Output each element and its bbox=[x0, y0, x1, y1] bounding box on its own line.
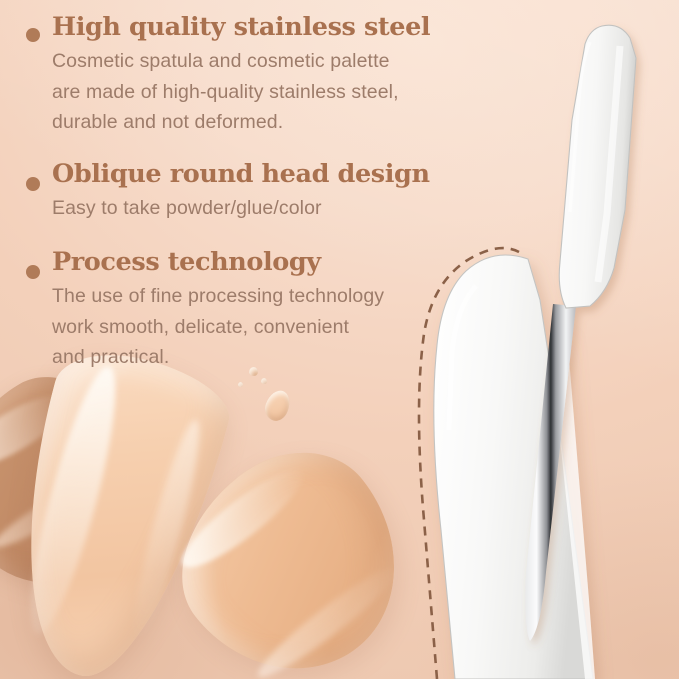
bullet-dot-icon bbox=[26, 177, 40, 191]
feature-description-line: Easy to take powder/glue/color bbox=[52, 193, 452, 224]
feature-list: High quality stainless steel Cosmetic sp… bbox=[0, 0, 452, 373]
feature-description: The use of fine processing technology wo… bbox=[52, 281, 452, 373]
spatula-slim-blade bbox=[559, 25, 636, 308]
foundation-droplet bbox=[261, 387, 293, 424]
spatula-chrome-handle bbox=[526, 304, 577, 641]
product-feature-image: High quality stainless steel Cosmetic sp… bbox=[0, 0, 679, 679]
feature-description-line: are made of high-quality stainless steel… bbox=[52, 77, 452, 108]
bullet-dot-icon bbox=[26, 265, 40, 279]
feature-heading: High quality stainless steel bbox=[52, 12, 452, 42]
foundation-droplet bbox=[261, 378, 267, 384]
foundation-swatch-group bbox=[0, 360, 370, 679]
bullet-dot-icon bbox=[26, 28, 40, 42]
feature-description-line: work smooth, delicate, convenient bbox=[52, 312, 452, 343]
feature-description: Easy to take powder/glue/color bbox=[52, 193, 452, 224]
feature-heading: Oblique round head design bbox=[52, 159, 452, 189]
feature-heading: Process technology bbox=[52, 247, 452, 277]
feature-description-line: Cosmetic spatula and cosmetic palette bbox=[52, 46, 452, 77]
foundation-droplet bbox=[238, 382, 243, 387]
cosmetic-spatula-slim bbox=[526, 25, 637, 641]
swatch-highlight-secondary bbox=[250, 556, 406, 679]
feature-description: Cosmetic spatula and cosmetic palette ar… bbox=[52, 46, 452, 138]
feature-description-line: The use of fine processing technology bbox=[52, 281, 452, 312]
cosmetic-spatula-large bbox=[434, 255, 595, 679]
feature-description-line: durable and not deformed. bbox=[52, 107, 452, 138]
feature-item-2: Oblique round head design Easy to take p… bbox=[0, 159, 452, 224]
feature-description-line: and practical. bbox=[52, 342, 452, 373]
feature-item-3: Process technology The use of fine proce… bbox=[0, 247, 452, 373]
feature-item-1: High quality stainless steel Cosmetic sp… bbox=[0, 12, 452, 138]
